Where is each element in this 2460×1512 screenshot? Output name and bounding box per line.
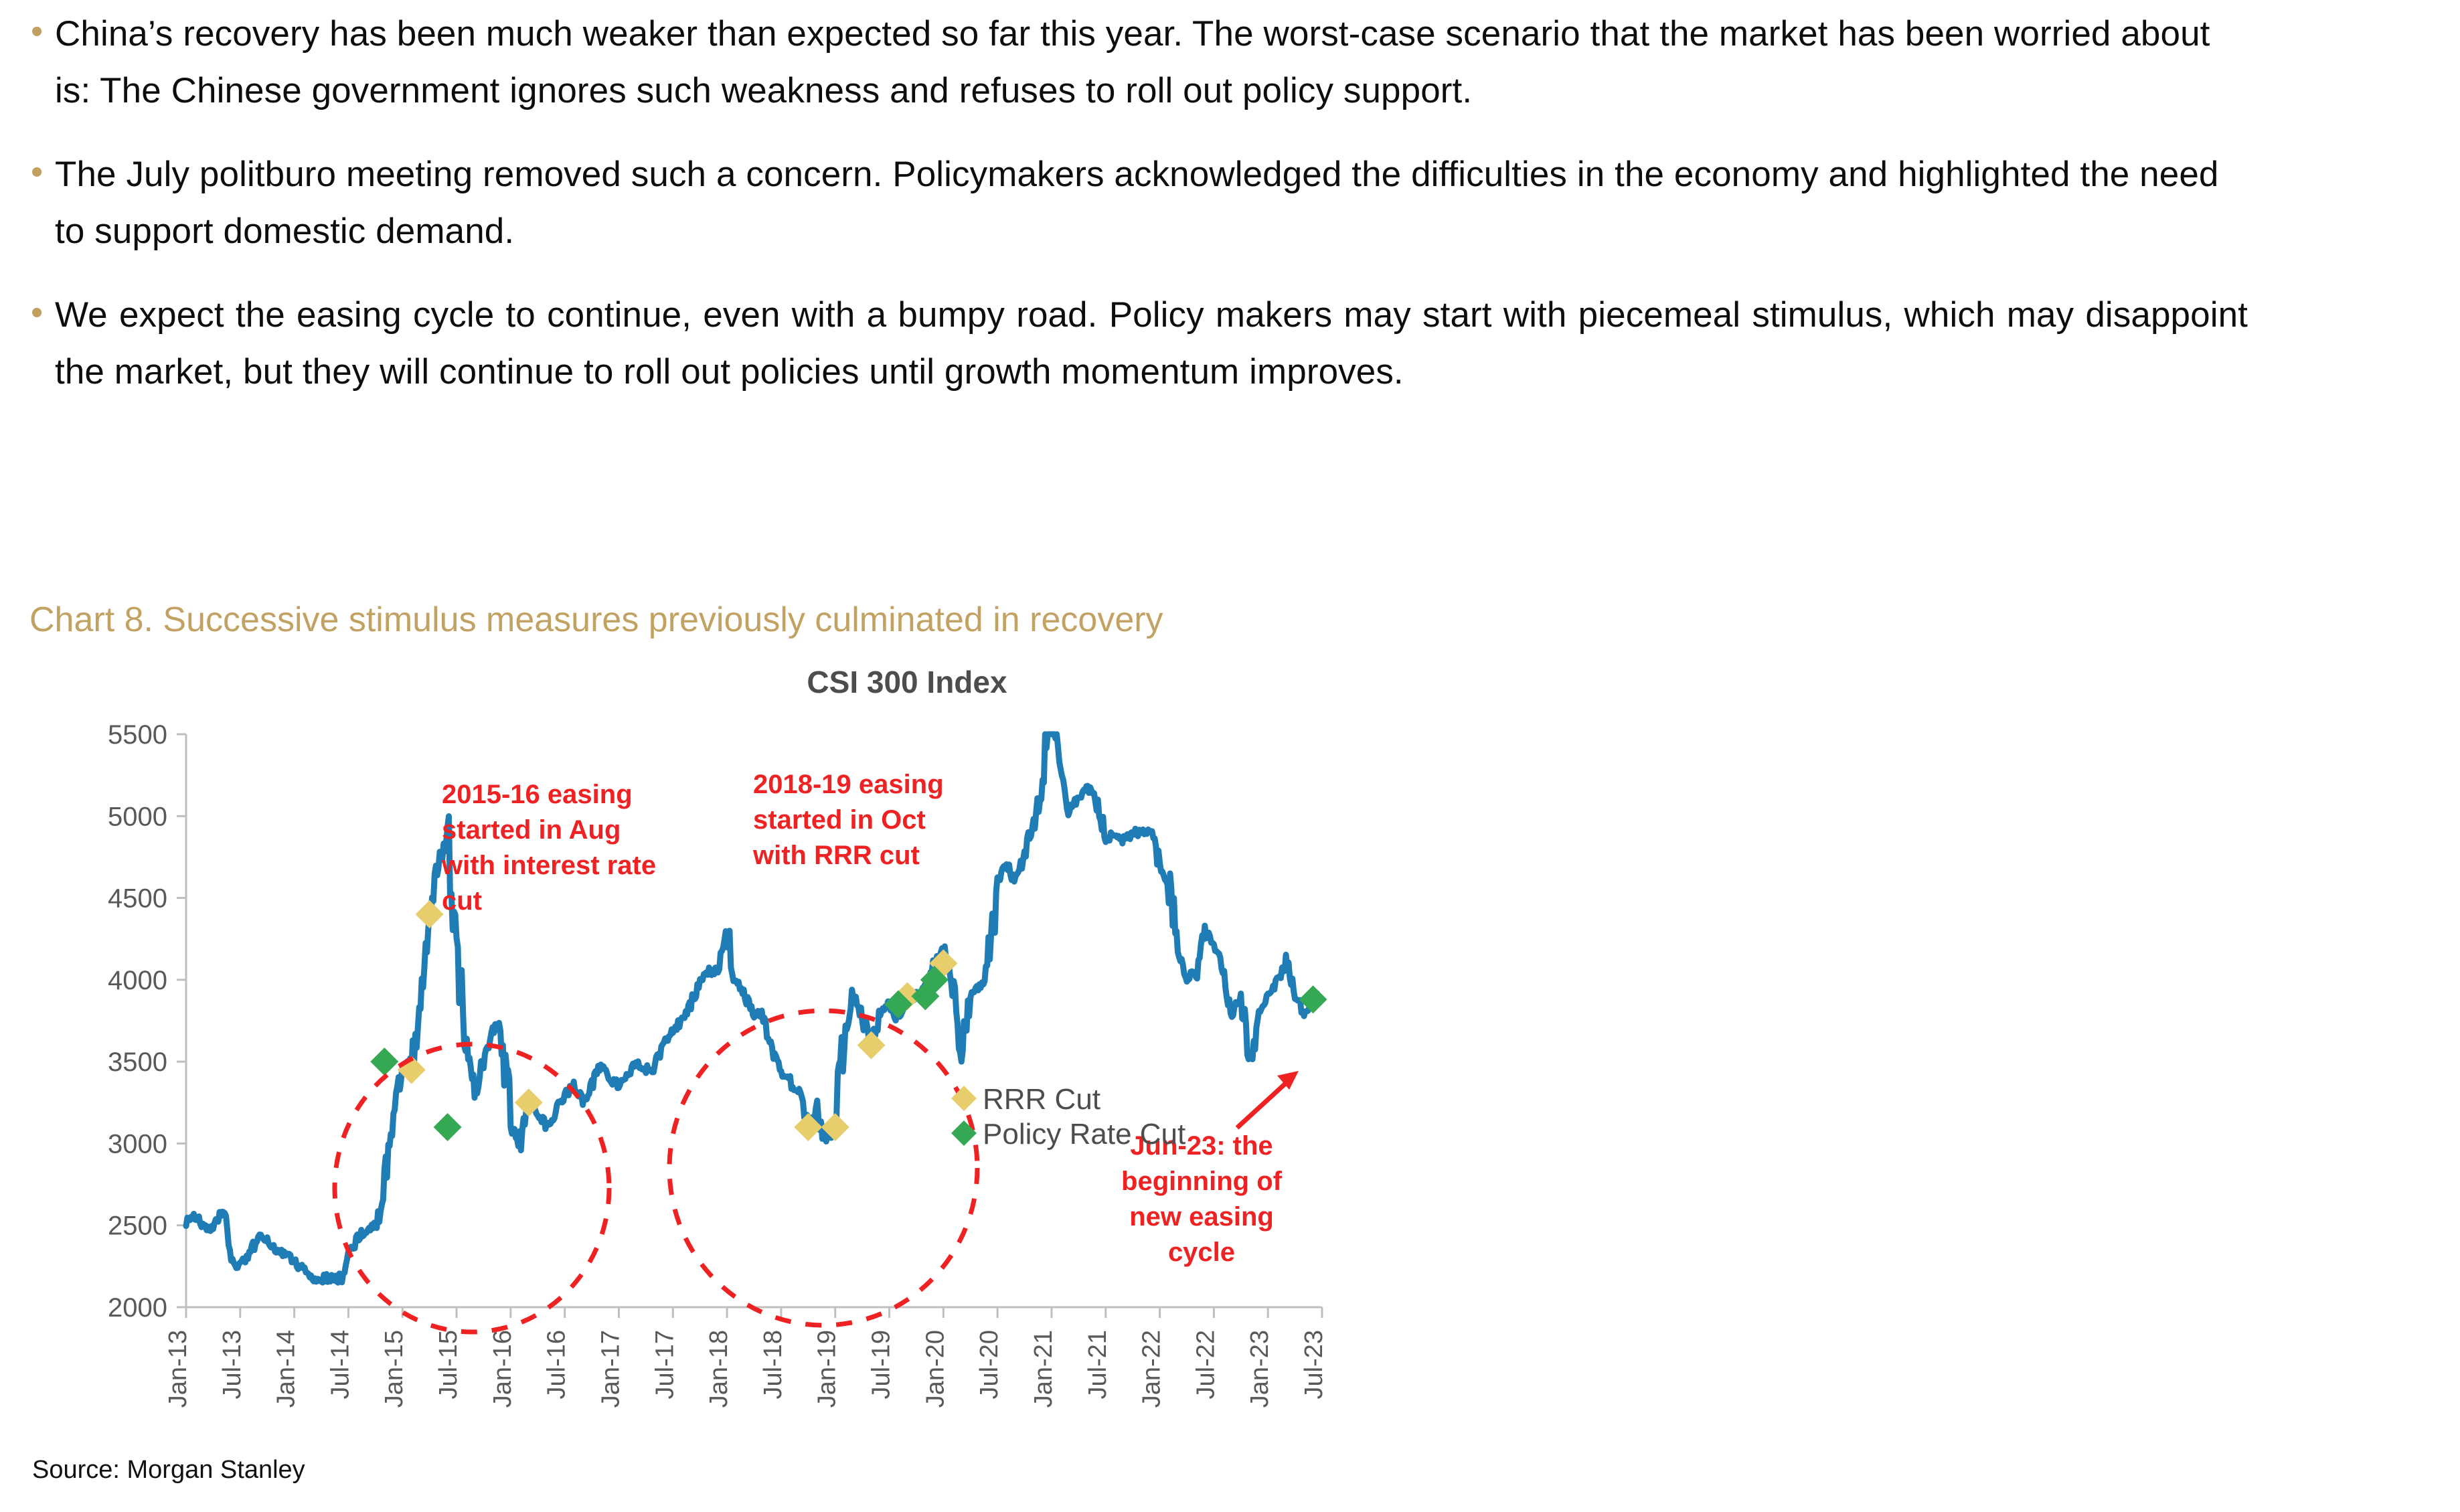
y-tick-label: 4000 [108, 966, 167, 995]
x-tick-label: Jul-17 [651, 1330, 679, 1400]
x-tick-label: Jan-17 [596, 1330, 625, 1408]
annotation-line: 2015-16 easing [442, 780, 633, 809]
annotation-line: new easing [1129, 1202, 1274, 1232]
annotation-line: with interest rate [441, 851, 656, 880]
annotation-line: started in Aug [442, 815, 621, 845]
x-tick-label: Jul-15 [434, 1330, 463, 1400]
annotation-line: cut [442, 886, 482, 916]
x-tick-label: Jan-21 [1030, 1330, 1058, 1408]
bullet-marker-icon: • [25, 5, 55, 58]
x-tick-label: Jan-20 [921, 1330, 949, 1408]
annotation-line: beginning of [1121, 1167, 1283, 1196]
legend-label-policy-rate-cut: Policy Rate Cut [983, 1118, 1185, 1151]
y-tick-label: 3500 [108, 1047, 167, 1077]
x-tick-label: Jul-22 [1192, 1330, 1220, 1400]
x-tick-label: Jul-21 [1084, 1330, 1112, 1400]
x-tick-label: Jan-13 [164, 1330, 192, 1408]
annotation-line: started in Oct [753, 805, 926, 835]
policy-rate-cut-markers [370, 966, 1327, 1141]
policy-rate-cut-marker [434, 1113, 462, 1141]
y-axis-ticks: 55005000450040003500300025002000 [108, 720, 186, 1323]
bullet-marker-icon: • [25, 146, 55, 198]
legend-label-rrr-cut: RRR Cut [983, 1083, 1100, 1116]
y-tick-label: 5000 [108, 802, 167, 831]
x-tick-label: Jan-16 [489, 1330, 517, 1408]
x-tick-label: Jan-19 [813, 1330, 841, 1408]
chart-title: CSI 300 Index [807, 665, 1007, 699]
y-tick-label: 4500 [108, 884, 167, 914]
list-item: • We expect the easing cycle to continue… [25, 286, 2248, 400]
rrr-cut-marker [416, 900, 444, 928]
x-tick-label: Jul-20 [975, 1330, 1003, 1400]
rrr-cut-marker [857, 1031, 886, 1060]
y-tick-label: 3000 [108, 1129, 167, 1159]
x-tick-label: Jan-15 [380, 1330, 408, 1408]
x-axis-ticks: Jan-13Jul-13Jan-14Jul-14Jan-15Jul-15Jan-… [164, 1307, 1328, 1408]
annotation-2018-19: 2018-19 easing started in Oct with RRR c… [752, 770, 944, 870]
highlight-ellipse-2018-19 [669, 1011, 977, 1325]
annotation-line: 2018-19 easing [753, 770, 944, 799]
x-tick-label: Jul-14 [326, 1330, 354, 1400]
y-tick-label: 5500 [108, 720, 167, 750]
x-tick-label: Jul-23 [1300, 1330, 1328, 1400]
x-tick-label: Jul-19 [868, 1330, 896, 1400]
policy-rate-cut-marker [370, 1047, 398, 1076]
annotation-2015-16: 2015-16 easing started in Aug with inter… [441, 780, 656, 916]
x-tick-label: Jan-18 [705, 1330, 733, 1408]
x-tick-label: Jul-18 [759, 1330, 787, 1400]
bullet-marker-icon: • [25, 286, 55, 339]
y-tick-label: 2500 [108, 1211, 167, 1241]
x-tick-label: Jan-14 [272, 1330, 301, 1408]
chart-container: CSI 300 Index 55005000450040003500300025… [0, 659, 1821, 1436]
annotation-arrow-icon [1237, 1071, 1299, 1128]
chart-caption: Chart 8. Successive stimulus measures pr… [29, 599, 1163, 641]
y-tick-label: 2000 [108, 1293, 167, 1323]
x-tick-label: Jul-16 [543, 1330, 571, 1400]
source-note: Source: Morgan Stanley [32, 1456, 305, 1485]
annotation-line: with RRR cut [752, 841, 920, 870]
bullet-text: China’s recovery has been much weaker th… [55, 5, 2248, 119]
x-tick-label: Jan-23 [1246, 1330, 1274, 1408]
annotation-line: cycle [1168, 1238, 1235, 1267]
chart-legend: RRR Cut Policy Rate Cut [951, 1083, 1185, 1151]
x-tick-label: Jul-13 [218, 1330, 246, 1400]
bullet-text: The July politburo meeting removed such … [55, 146, 2248, 260]
list-item: • China’s recovery has been much weaker … [25, 5, 2248, 119]
bullet-list: • China’s recovery has been much weaker … [25, 5, 2248, 427]
csi-300-index-chart: CSI 300 Index 55005000450040003500300025… [0, 659, 1821, 1436]
x-tick-label: Jan-22 [1138, 1330, 1166, 1408]
annotation-jun-23: Jun-23: the beginning of new easing cycl… [1121, 1131, 1283, 1267]
bullet-text: We expect the easing cycle to continue, … [55, 286, 2248, 400]
list-item: • The July politburo meeting removed suc… [25, 146, 2248, 260]
